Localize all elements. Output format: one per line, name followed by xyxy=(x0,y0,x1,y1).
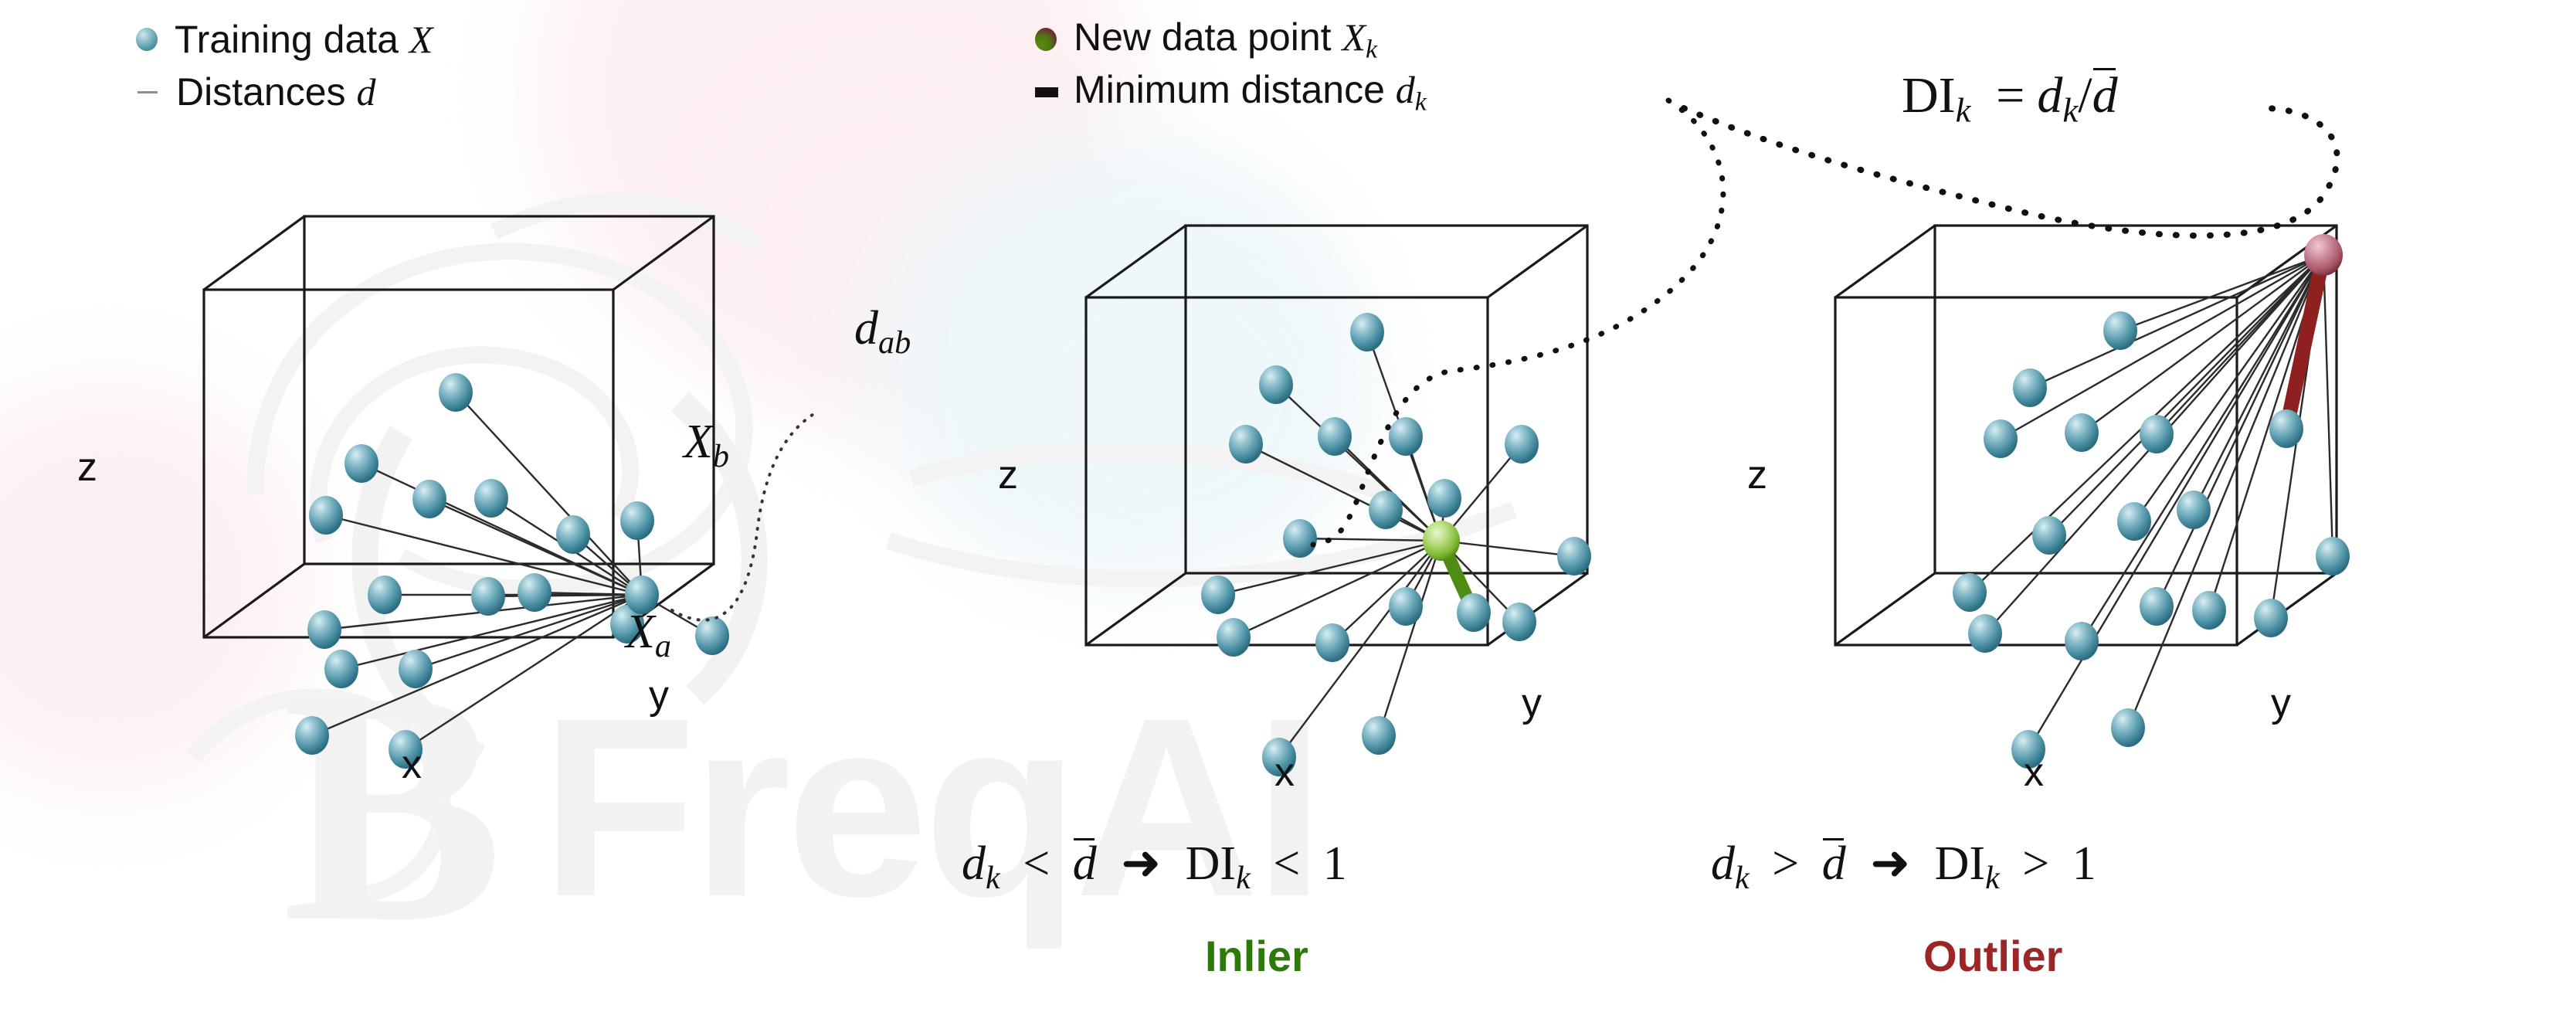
new-point-icon xyxy=(1035,28,1057,51)
legend-item-minimum-distance: Minimum distance dk xyxy=(1035,68,1427,116)
inlier-cube: z y x xyxy=(1058,216,1715,819)
legend-label-distances: Distances d xyxy=(176,70,375,114)
annotation-Xa: Xa xyxy=(626,605,671,665)
axis-label-x-1: x xyxy=(402,742,422,788)
axis-label-x-2: x xyxy=(1274,749,1295,796)
legend-item-new-data-point: New data point Xk xyxy=(1035,15,1427,63)
axis-label-z-3: z xyxy=(1747,452,1767,498)
legend-label-training-data: Training data X xyxy=(175,17,433,62)
annotation-dab: dab xyxy=(854,301,911,362)
minimum-distance-icon xyxy=(1035,87,1058,97)
legend-label-new-data-point: New data point Xk xyxy=(1074,15,1377,65)
axis-label-y-2: y xyxy=(1522,680,1542,726)
axis-label-y-3: y xyxy=(2271,680,2291,726)
cube-frame-1 xyxy=(204,216,714,637)
outlier-condition-formula: dk > d ➜ DIk > 1 xyxy=(1711,834,2096,897)
new-data-point-outlier xyxy=(2304,234,2343,276)
axis-label-z-2: z xyxy=(998,452,1018,498)
di-definition-formula: DIk =dk/d xyxy=(1902,66,2118,131)
legend-label-minimum-distance: Minimum distance dk xyxy=(1074,67,1427,117)
caption-inlier: Inlier xyxy=(1205,931,1308,981)
training-point-icon xyxy=(136,28,158,51)
legend-item-training-data: Training data X xyxy=(136,15,433,63)
annotation-Xb: Xb xyxy=(684,415,729,475)
distance-lines-3 xyxy=(1970,255,2333,749)
legend-item-distances: Distances d xyxy=(136,68,433,116)
diagram-canvas: B FreqAI Training data X Distances d New… xyxy=(0,0,2576,1022)
axis-label-z-1: z xyxy=(77,444,97,491)
legend-left: Training data X Distances d xyxy=(136,15,433,116)
legend-middle: New data point Xk Minimum distance dk xyxy=(1035,15,1427,116)
axis-label-y-1: y xyxy=(649,672,669,718)
caption-outlier: Outlier xyxy=(1923,931,2062,981)
new-data-point-inlier xyxy=(1423,521,1460,561)
distance-line-icon xyxy=(137,91,158,93)
training-data-cube: z y x xyxy=(139,209,911,819)
outlier-cube: z y x xyxy=(1807,216,2464,819)
axis-label-x-3: x xyxy=(2024,749,2044,796)
inlier-condition-formula: dk < d ➜ DIk < 1 xyxy=(962,834,1347,897)
